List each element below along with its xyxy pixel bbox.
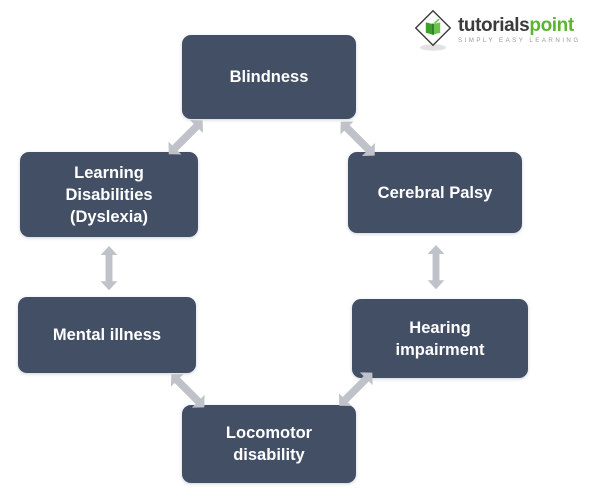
book-in-diamond-icon — [412, 10, 454, 52]
node-learning-disabilities[interactable]: Learning Disabilities (Dyslexia) — [20, 152, 198, 237]
node-hearing-impairment-label: Hearing impairment — [396, 317, 485, 361]
node-blindness[interactable]: Blindness — [182, 35, 356, 119]
node-mental-illness-label: Mental illness — [53, 324, 161, 346]
node-cerebral-palsy[interactable]: Cerebral Palsy — [348, 152, 522, 233]
diagram-canvas: tutorialspoint SIMPLY EASY LEARNING Blin… — [0, 0, 600, 503]
logo-word-tutorials: tutorials — [458, 15, 529, 36]
connector-cerebral-palsy-hearing-impairment-double-arrow-icon — [419, 242, 453, 294]
node-mental-illness[interactable]: Mental illness — [18, 297, 196, 373]
node-learning-disabilities-label: Learning Disabilities (Dyslexia) — [65, 162, 152, 228]
connector-hearing-impairment-locomotor-disability-double-arrow-icon — [328, 366, 382, 414]
node-cerebral-palsy-label: Cerebral Palsy — [378, 182, 493, 204]
node-locomotor-disability[interactable]: Locomotor disability — [182, 405, 356, 483]
tutorialspoint-logo[interactable]: tutorialspoint SIMPLY EASY LEARNING — [412, 8, 582, 52]
node-blindness-label: Blindness — [230, 66, 309, 88]
logo-tagline: SIMPLY EASY LEARNING — [458, 36, 582, 46]
connector-blindness-learning-disabilities-double-arrow-icon — [158, 112, 212, 164]
connector-mental-illness-locomotor-disability-double-arrow-icon — [160, 366, 214, 414]
logo-word-point: point — [529, 15, 573, 36]
logo-wordmark: tutorialspoint SIMPLY EASY LEARNING — [458, 16, 582, 46]
connector-learning-disabilities-mental-illness-double-arrow-icon — [92, 243, 126, 295]
node-locomotor-disability-label: Locomotor disability — [226, 422, 312, 466]
connector-blindness-cerebral-palsy-double-arrow-icon — [330, 112, 384, 164]
